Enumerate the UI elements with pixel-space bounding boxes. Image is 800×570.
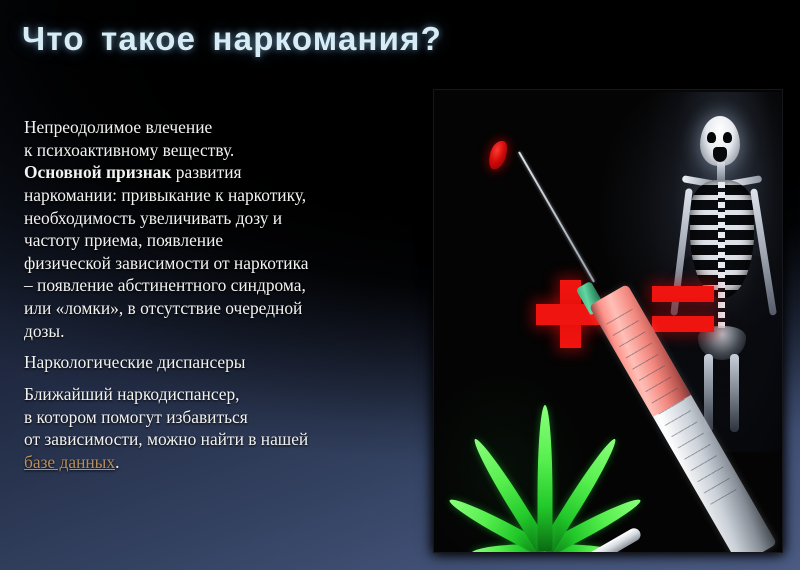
- illustration-panel: [434, 90, 782, 552]
- text-line: наркомании: привыкание к наркотику,: [24, 185, 306, 205]
- spine: [718, 182, 725, 332]
- emphasis-main-sign: Основной признак: [24, 162, 171, 182]
- text-line: дозы.: [24, 321, 64, 341]
- skeleton-icon: [670, 102, 778, 432]
- text-fragment: .: [115, 452, 119, 472]
- text-line: или «ломки», в отсутствие очередной: [24, 298, 302, 318]
- text-fragment: развития: [171, 162, 241, 182]
- text-line: – появление абстинентного синдрома,: [24, 275, 306, 295]
- slide: Что такое наркомания? Непреодолимое влеч…: [0, 0, 800, 570]
- text-line: частоту приема, появление: [24, 230, 223, 250]
- text-line: Непреодолимое влечение: [24, 117, 212, 137]
- subheading-clinics: Наркологические диспансеры: [24, 351, 424, 374]
- skull-jaw: [713, 147, 727, 162]
- body-text-column: Непреодолимое влечение к психоактивному …: [24, 116, 424, 473]
- skull-icon: [700, 116, 740, 166]
- database-link[interactable]: базе данных: [24, 452, 115, 472]
- text-line: Ближайший наркодиспансер,: [24, 384, 240, 404]
- equals-bar-top: [652, 286, 714, 302]
- leaf-blade: [538, 405, 553, 551]
- leg-right: [730, 354, 739, 432]
- text-line: к психоактивному веществу.: [24, 140, 234, 160]
- page-title: Что такое наркомания?: [22, 20, 542, 58]
- equals-sign-icon: [652, 286, 714, 334]
- spine-neck: [717, 162, 725, 182]
- equals-bar-bottom: [652, 316, 714, 332]
- skull-eye-right: [723, 132, 732, 143]
- text-line: физической зависимости от наркотика: [24, 253, 309, 273]
- paragraph-clinics: Ближайший наркодиспансер, в котором помо…: [24, 383, 424, 474]
- paragraph-definition: Непреодолимое влечение к психоактивному …: [24, 116, 424, 342]
- text-line: необходимость увеличивать дозу и: [24, 208, 282, 228]
- cannabis-leaf-icon: [440, 340, 650, 552]
- text-line: от зависимости, можно найти в нашей: [24, 429, 308, 449]
- text-line: в котором помогут избавиться: [24, 407, 248, 427]
- skull-eye-left: [707, 132, 716, 143]
